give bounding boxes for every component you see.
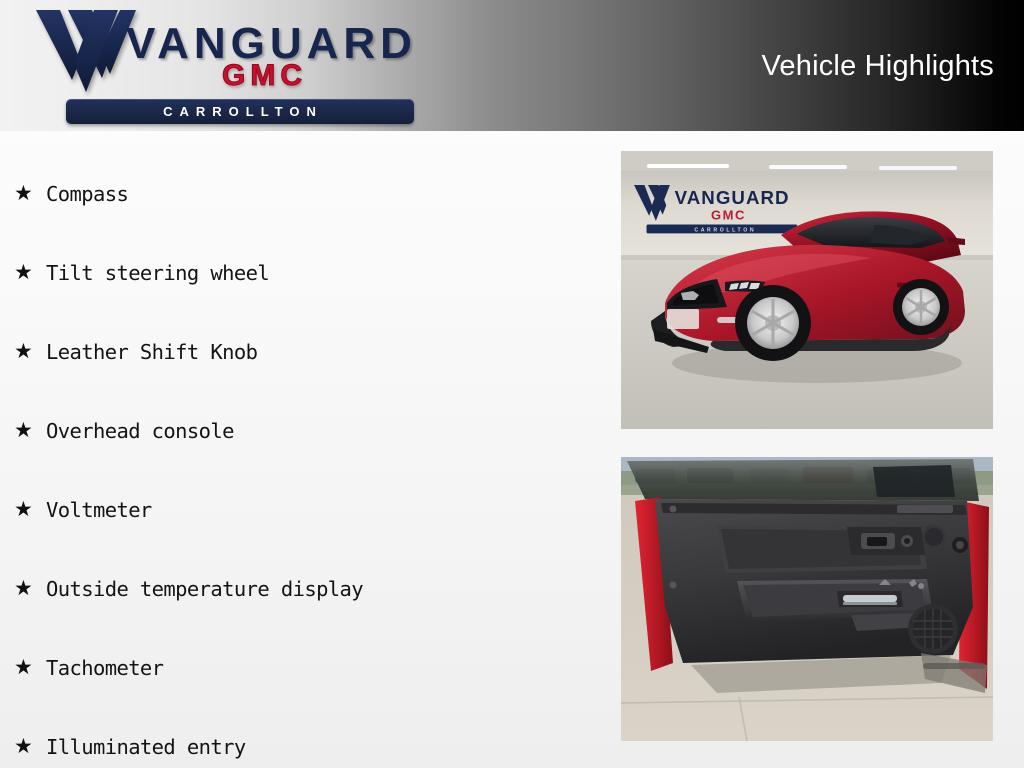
- list-item-label: Overhead console: [46, 419, 234, 443]
- star-icon: ★: [14, 420, 46, 441]
- star-icon: ★: [14, 578, 46, 599]
- svg-text:GMC: GMC: [711, 207, 746, 222]
- list-item: ★ Outside temperature display: [14, 549, 610, 628]
- list-item: ★ Tachometer: [14, 628, 610, 707]
- vanguard-double-v-mark-icon: [34, 8, 138, 94]
- list-item-label: Leather Shift Knob: [46, 340, 257, 364]
- list-item-label: Voltmeter: [46, 498, 152, 522]
- vehicle-photo-interior-door[interactable]: [621, 457, 993, 741]
- logo-location-banner: CARROLLTON: [66, 99, 414, 124]
- list-item: ★ Illuminated entry: [14, 707, 610, 768]
- star-icon: ★: [14, 183, 46, 204]
- list-item: ★ Leather Shift Knob: [14, 312, 610, 391]
- vehicle-photo-exterior[interactable]: VANGUARD GMC CARROLLTON: [621, 151, 993, 429]
- list-item-label: Tachometer: [46, 656, 163, 680]
- list-item-label: Illuminated entry: [46, 735, 246, 759]
- list-item: ★ Overhead console: [14, 391, 610, 470]
- dealer-logo[interactable]: VANGUARD GMC CARROLLTON: [26, 6, 398, 124]
- list-item: ★ Compass: [14, 154, 610, 233]
- star-icon: ★: [14, 341, 46, 362]
- svg-text:CARROLLTON: CARROLLTON: [694, 227, 756, 233]
- logo-make-gmc: GMC: [222, 61, 307, 91]
- page-title: Vehicle Highlights: [761, 50, 994, 83]
- star-icon: ★: [14, 736, 46, 757]
- list-item-label: Compass: [46, 182, 128, 206]
- svg-text:VANGUARD: VANGUARD: [675, 187, 790, 208]
- list-item: ★ Voltmeter: [14, 470, 610, 549]
- list-item-label: Tilt steering wheel: [46, 261, 269, 285]
- vehicle-highlights-list: ★ Compass ★ Tilt steering wheel ★ Leathe…: [0, 131, 610, 768]
- star-icon: ★: [14, 499, 46, 520]
- star-icon: ★: [14, 657, 46, 678]
- logo-location-label: CARROLLTON: [66, 99, 414, 124]
- page-header: VANGUARD GMC CARROLLTON Vehicle Highligh…: [0, 0, 1024, 131]
- list-item: ★ Tilt steering wheel: [14, 233, 610, 312]
- list-item-label: Outside temperature display: [46, 577, 363, 601]
- star-icon: ★: [14, 262, 46, 283]
